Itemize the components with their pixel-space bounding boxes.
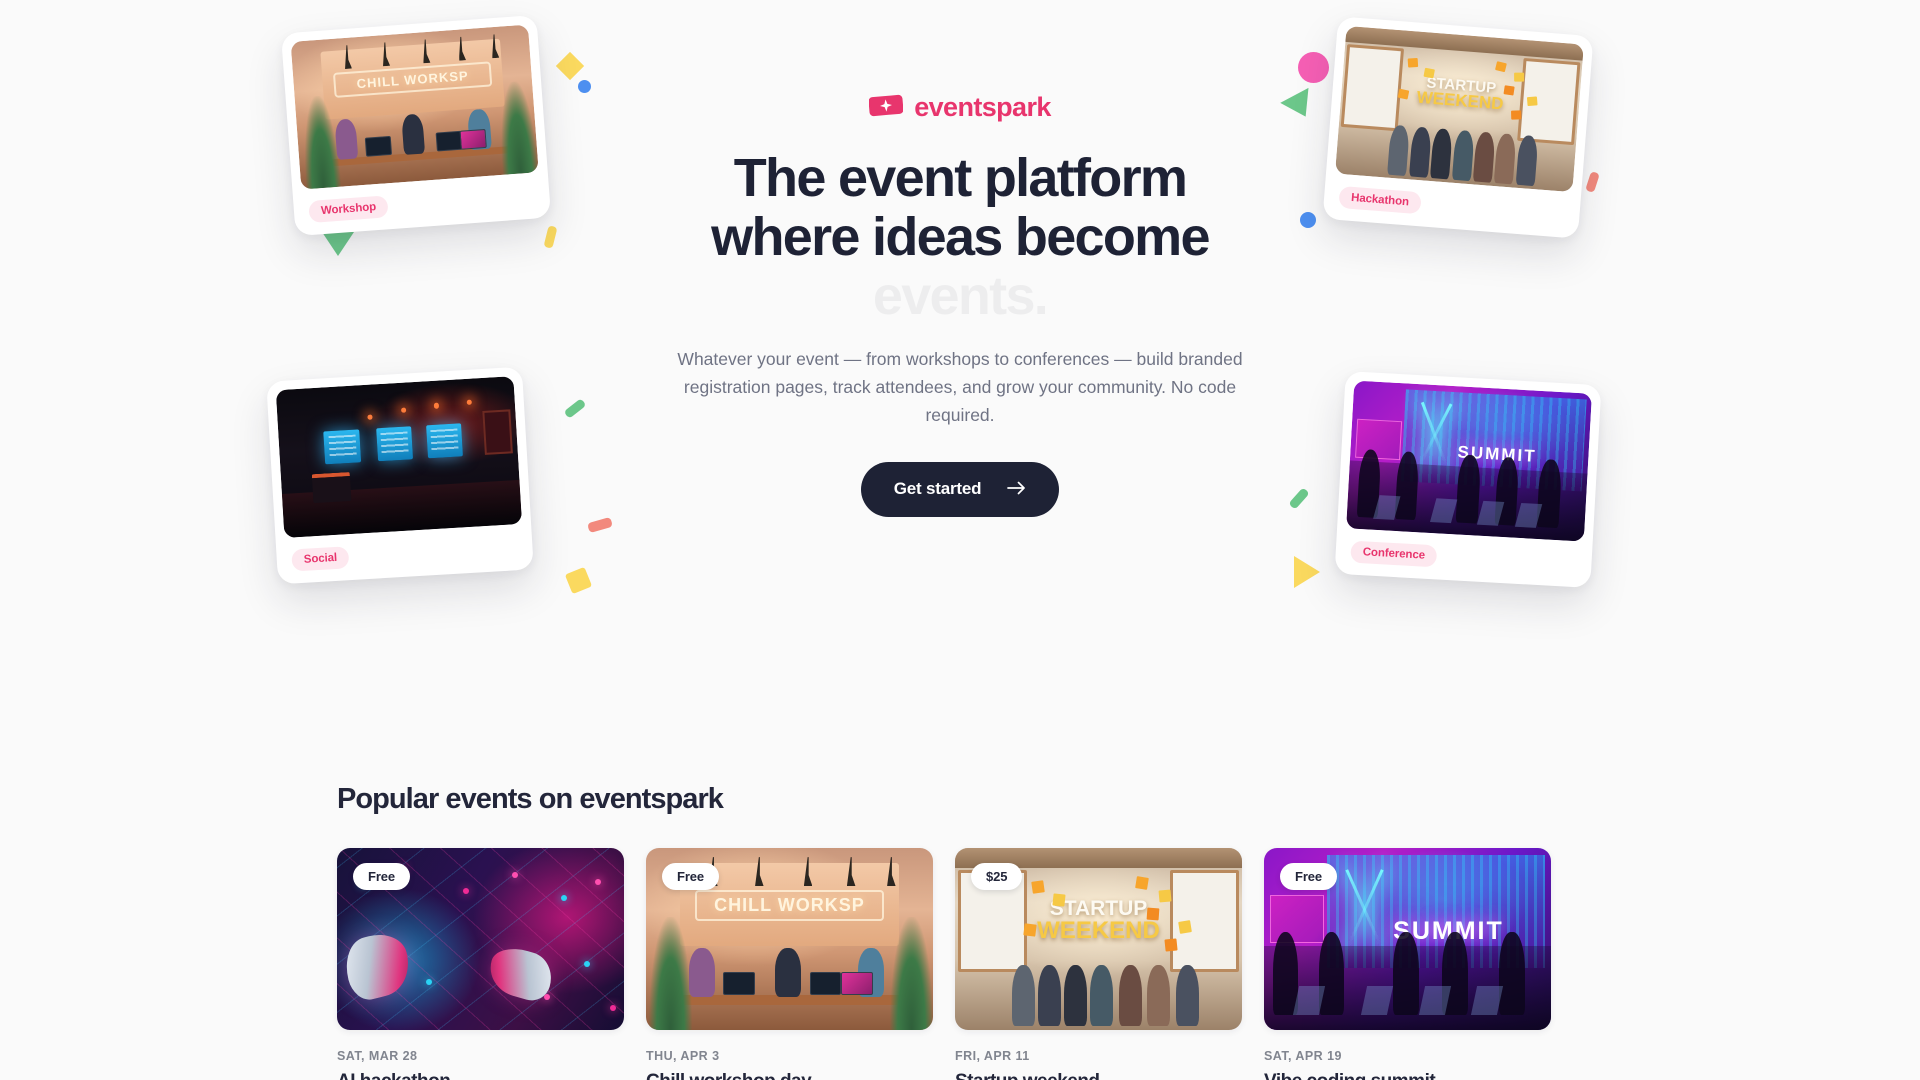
event-thumbnail-startup-weekend: $25 STARTUP WEEKEND: [955, 848, 1242, 1030]
event-date: SAT, APR 19: [1264, 1049, 1551, 1063]
blue-circle-decor: [578, 80, 591, 93]
floating-card-conference[interactable]: SUMMIT Conference: [1335, 371, 1602, 588]
event-thumbnail-ai: Free: [337, 848, 624, 1030]
photo-text-chill-worksp: CHILL WORKSP: [695, 890, 884, 921]
event-date: FRI, APR 11: [955, 1049, 1242, 1063]
get-started-button[interactable]: Get started: [861, 462, 1060, 517]
popular-events-section: Popular events on eventspark Free: [275, 740, 1645, 1080]
section-title: Popular events on eventspark: [275, 783, 1645, 816]
category-badge: Social: [291, 546, 349, 571]
event-date: SAT, MAR 28: [337, 1049, 624, 1063]
card-thumbnail-startup-weekend: STARTUP WEEKEND: [1335, 26, 1584, 192]
card-thumbnail-lan-room: [276, 376, 522, 538]
get-started-label: Get started: [894, 479, 982, 499]
green-triangle-right-decor: [1280, 88, 1320, 124]
price-badge: Free: [1280, 863, 1337, 890]
coral-bar-decor-2: [587, 517, 613, 533]
cta-container: Get started: [650, 462, 1270, 517]
brand-logo[interactable]: eventspark: [650, 92, 1270, 123]
event-title: Chill workshop day: [646, 1071, 933, 1080]
hero-section: CHILL WORKSP Workshop: [0, 0, 1920, 740]
headline-line-2: where ideas become: [630, 208, 1290, 267]
headline-line-1: The event platform: [630, 149, 1290, 208]
category-badge: Hackathon: [1338, 186, 1421, 214]
blue-circle-decor-2: [1300, 212, 1316, 228]
event-title: AI hackathon: [337, 1071, 624, 1080]
photo-text-weekend: WEEKEND: [1416, 90, 1504, 113]
pink-circle-decor: [1298, 52, 1329, 83]
event-date: THU, APR 3: [646, 1049, 933, 1063]
event-card[interactable]: Free: [337, 848, 624, 1080]
ticket-sparkle-icon: [869, 94, 903, 122]
yellow-triangle-decor: [1294, 556, 1320, 588]
floating-card-workshop[interactable]: CHILL WORKSP Workshop: [281, 15, 551, 236]
page-title: The event platform where ideas become ev…: [630, 149, 1290, 326]
price-badge: $25: [971, 863, 1022, 890]
yellow-square-decor: [565, 567, 592, 594]
floating-card-hackathon[interactable]: STARTUP WEEKEND Hackath: [1322, 16, 1593, 238]
price-badge: Free: [662, 863, 719, 890]
event-card[interactable]: $25 STARTUP WEEKEND: [955, 848, 1242, 1080]
events-grid: Free: [275, 848, 1645, 1080]
green-check-decor: [564, 398, 587, 419]
photo-text-weekend: WEEKEND: [1037, 919, 1160, 942]
yellow-bar-decor: [543, 225, 557, 249]
event-card[interactable]: Free CHILL WORKSP: [646, 848, 933, 1080]
category-badge: Workshop: [308, 195, 389, 223]
category-badge: Conference: [1350, 541, 1437, 568]
brand-name: eventspark: [914, 92, 1051, 123]
coral-bar-decor: [1585, 171, 1600, 193]
hero-subtitle: Whatever your event — from workshops to …: [650, 345, 1270, 430]
card-thumbnail-coworking: CHILL WORKSP: [291, 25, 539, 190]
green-check-decor-2: [1288, 487, 1309, 509]
price-badge: Free: [353, 863, 410, 890]
event-title: Vibe coding summit: [1264, 1071, 1551, 1080]
card-thumbnail-summit: SUMMIT: [1346, 381, 1592, 542]
event-thumbnail-summit: Free SUMMIT: [1264, 848, 1551, 1030]
headline-line-3: events.: [630, 267, 1290, 326]
floating-card-social[interactable]: Social: [266, 367, 534, 585]
event-card[interactable]: Free SUMMIT SAT,: [1264, 848, 1551, 1080]
green-triangle-decor: [322, 232, 354, 256]
arrow-right-icon: [1007, 480, 1026, 500]
yellow-diamond-decor: [556, 52, 584, 80]
hero-content: eventspark The event platform where idea…: [650, 92, 1270, 517]
event-thumbnail-coworking: Free CHILL WORKSP: [646, 848, 933, 1030]
event-title: Startup weekend: [955, 1071, 1242, 1080]
